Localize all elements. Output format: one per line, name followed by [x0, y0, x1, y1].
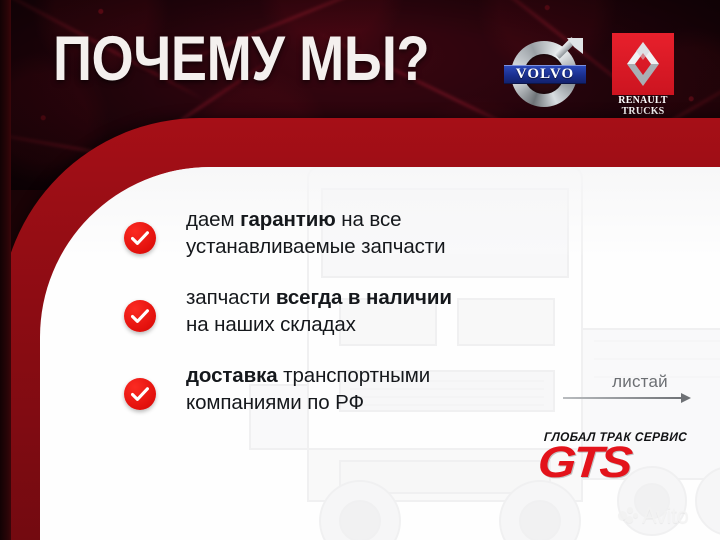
list-item-text: доставка транспортными компаниями по РФ — [186, 362, 554, 416]
renault-wordmark: RENAULT TRUCKS — [612, 95, 674, 117]
volvo-arrow-icon — [557, 39, 582, 64]
swipe-hint: листай — [563, 372, 703, 403]
bullet1-line1-bold: гарантию — [240, 208, 336, 231]
volvo-wordmark-band: VOLVO — [504, 65, 586, 84]
ad-banner: ПОЧЕМУ МЫ? VOLVO — [0, 0, 720, 540]
avito-label: Avito — [642, 503, 689, 529]
renault-line2: TRUCKS — [612, 106, 674, 117]
company-logo: ГЛОБАЛ ТРАК СЕРВИС GTS — [538, 430, 708, 486]
check-circle-icon — [124, 378, 156, 410]
bullet1-line1-post: на все — [336, 208, 402, 231]
list-item-text: запчасти всегда в наличии на наших склад… — [186, 284, 554, 338]
list-item: доставка транспортными компаниями по РФ — [124, 362, 554, 416]
volvo-wordmark: VOLVO — [516, 66, 575, 83]
benefits-list: даем гарантию на все устанавливаемые зап… — [124, 206, 554, 440]
renault-line1: RENAULT — [612, 95, 674, 106]
check-circle-icon — [124, 300, 156, 332]
list-item: запчасти всегда в наличии на наших склад… — [124, 284, 554, 338]
bullet3-line1-post: транспортными — [278, 364, 431, 387]
list-item: даем гарантию на все устанавливаемые зап… — [124, 206, 554, 260]
list-item-text: даем гарантию на все устанавливаемые зап… — [186, 206, 554, 260]
bullet2-line1-pre: запчасти — [186, 286, 276, 309]
swipe-hint-label: листай — [577, 372, 703, 392]
avito-dots-icon — [618, 507, 638, 525]
renault-diamond-icon — [626, 41, 660, 87]
bullet3-line2: компаниями по РФ — [186, 391, 364, 414]
bullet1-line1-pre: даем — [186, 208, 240, 231]
avito-watermark: Avito — [618, 503, 689, 529]
renault-trucks-logo: RENAULT TRUCKS — [612, 33, 674, 119]
bullet2-line1-bold: всегда в наличии — [276, 286, 452, 309]
bullet2-line2: на наших складах — [186, 313, 356, 336]
check-circle-icon — [124, 222, 156, 254]
company-abbreviation: GTS — [536, 440, 720, 486]
page-title: ПОЧЕМУ МЫ? — [53, 25, 429, 93]
arrow-right-icon — [563, 393, 703, 403]
renault-plate — [612, 33, 674, 95]
volvo-logo: VOLVO — [505, 35, 585, 115]
bullet1-line2: устанавливаемые запчасти — [186, 235, 445, 258]
left-edge-shadow — [0, 0, 11, 540]
bullet3-line1-bold: доставка — [186, 364, 278, 387]
